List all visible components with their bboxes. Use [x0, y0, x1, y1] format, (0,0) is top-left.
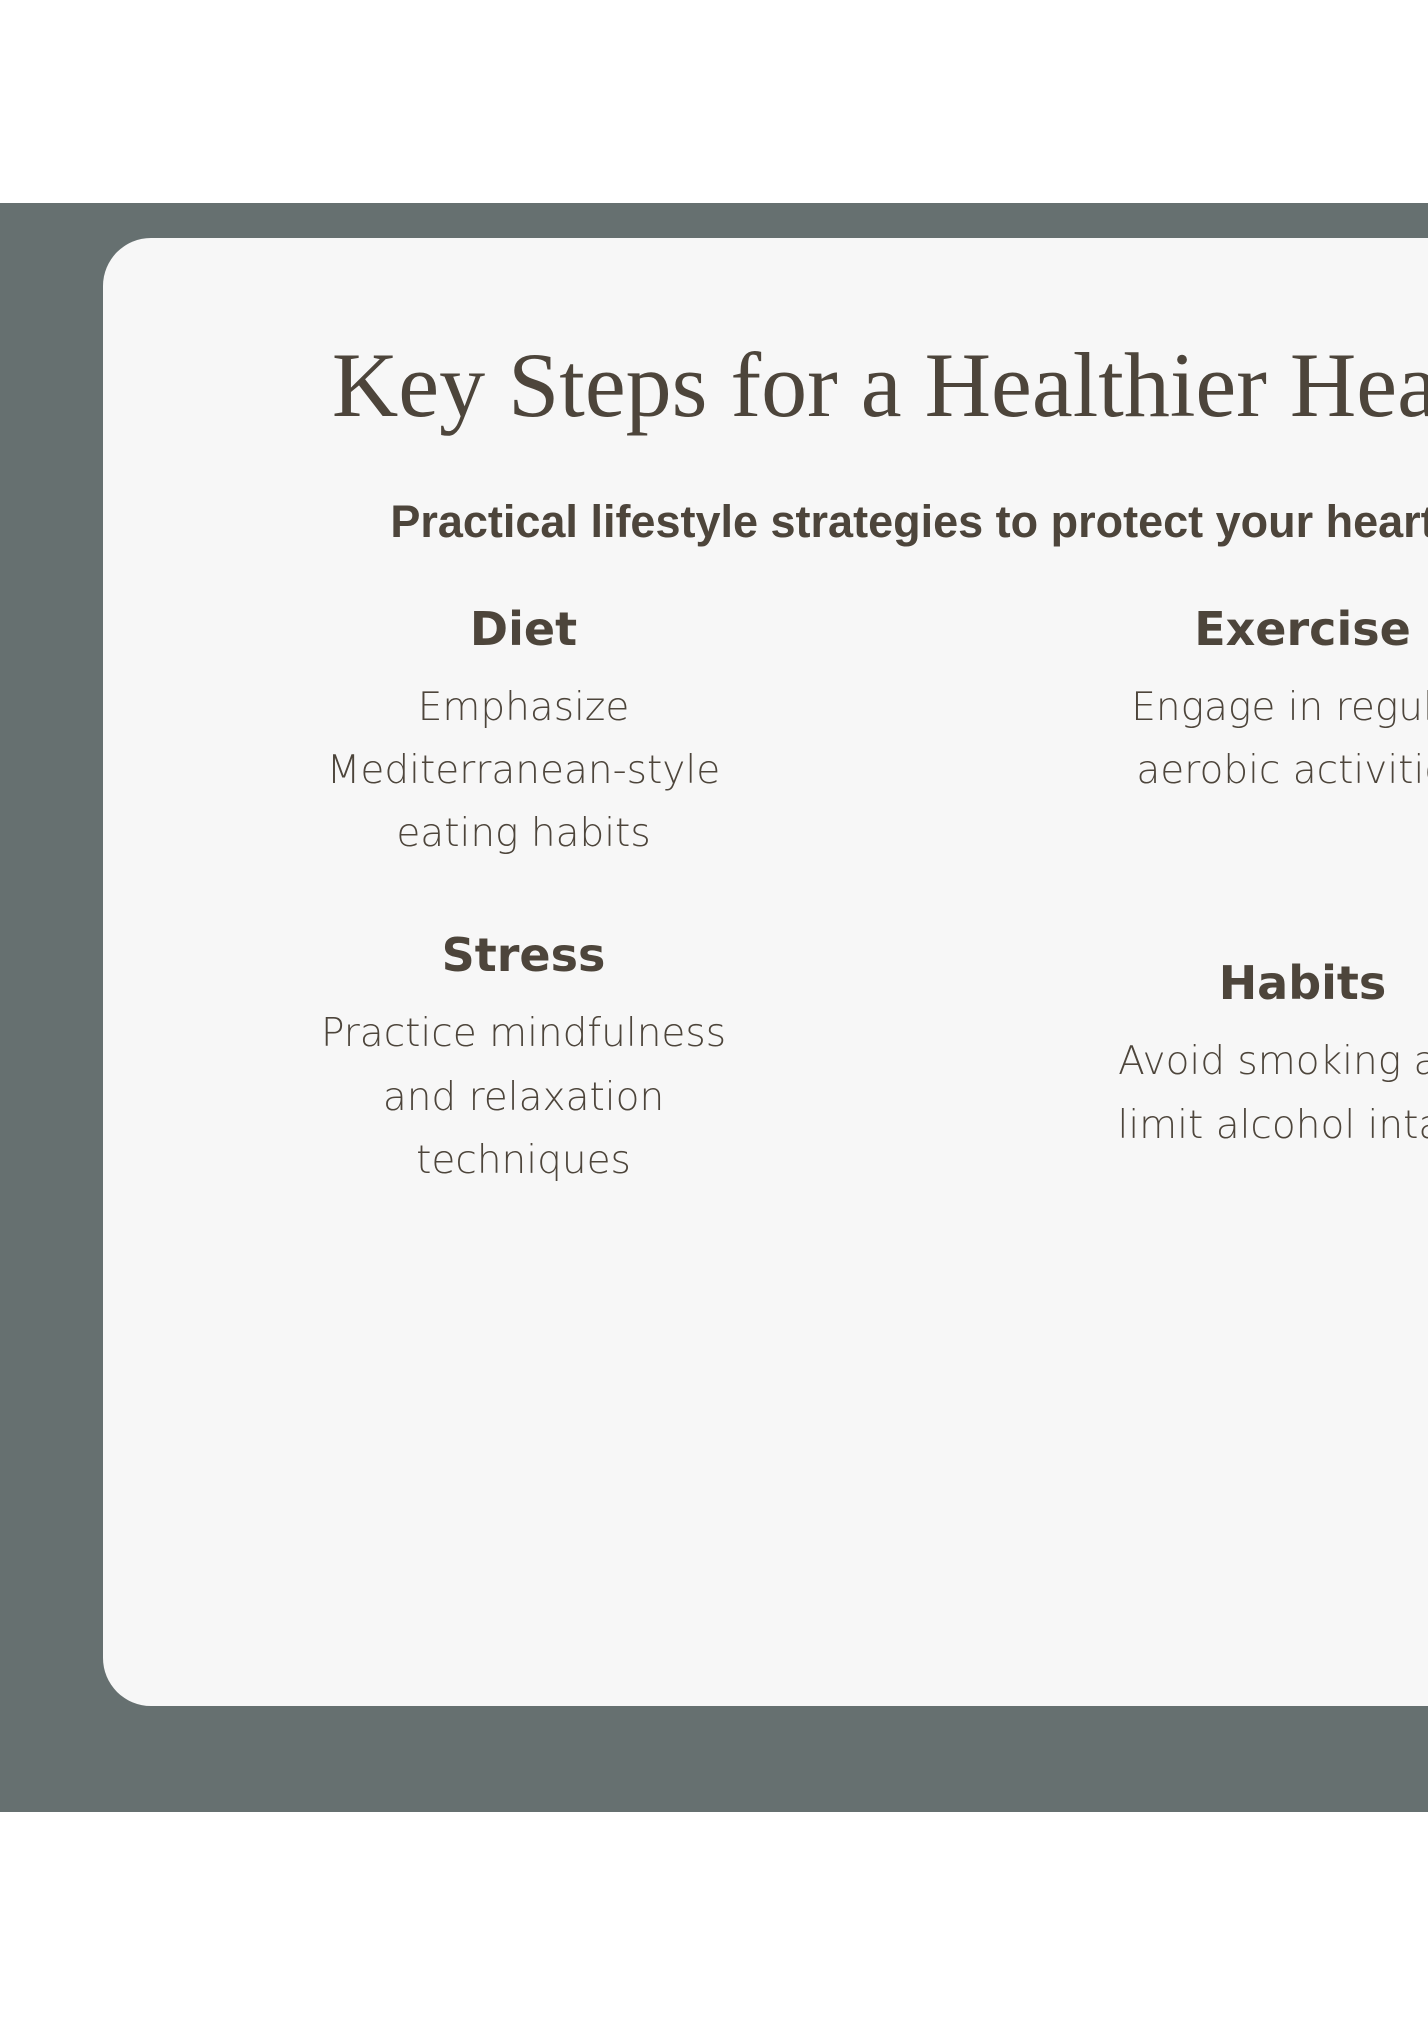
- page-title: Key Steps for a Healthier Heart: [173, 334, 1428, 437]
- key-steps-grid: Diet Emphasize Mediterranean-style eatin…: [173, 603, 1428, 1192]
- slide-stage: Key Steps for a Healthier Heart Practica…: [0, 0, 1428, 2018]
- key-step-heading-habits: Habits: [970, 957, 1428, 1010]
- key-step-exercise: Exercise Engage in regular aerobic activ…: [952, 603, 1428, 865]
- key-step-heading-exercise: Exercise: [970, 603, 1428, 656]
- key-step-body-exercise: Engage in regular aerobic activities: [1088, 676, 1428, 802]
- key-step-body-diet: Emphasize Mediterranean-style eating hab…: [309, 676, 739, 866]
- key-step-habits: Habits Avoid smoking and limit alcohol i…: [952, 929, 1428, 1191]
- key-step-diet: Diet Emphasize Mediterranean-style eatin…: [173, 603, 874, 865]
- content-card: Key Steps for a Healthier Heart Practica…: [103, 238, 1428, 1706]
- key-step-stress: Stress Practice mindfulness and relaxati…: [173, 929, 874, 1191]
- key-step-body-stress: Practice mindfulness and relaxation tech…: [309, 1002, 739, 1192]
- key-step-heading-stress: Stress: [191, 929, 856, 982]
- key-step-heading-diet: Diet: [191, 603, 856, 656]
- key-step-body-habits: Avoid smoking and limit alcohol intake: [1088, 1030, 1428, 1156]
- page-subtitle: Practical lifestyle strategies to protec…: [173, 495, 1428, 549]
